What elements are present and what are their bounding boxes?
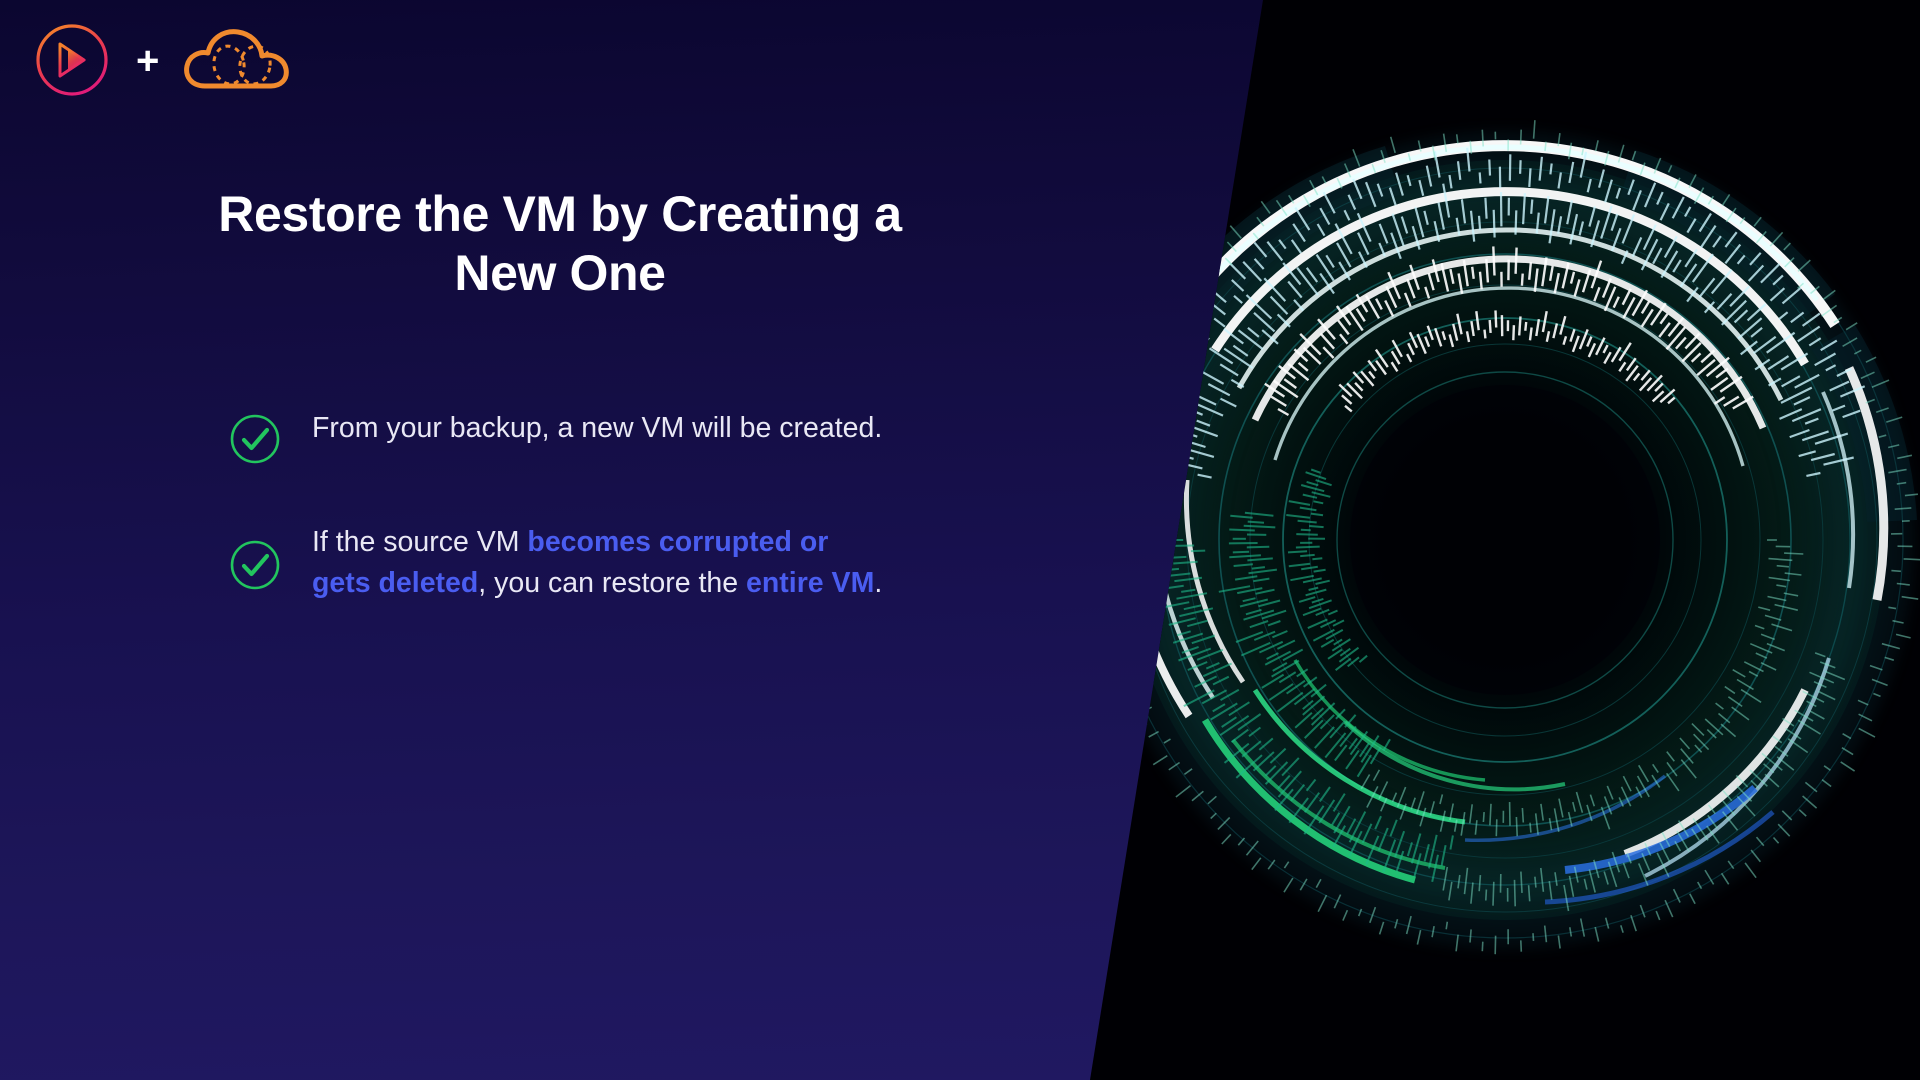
content-column: Restore the VM by Creating a New One Fro… [0, 0, 1180, 1080]
slide-root: + Restore the VM by Creating a New One F… [0, 0, 1920, 1080]
list-item: If the source VM becomes corrupted or ge… [228, 522, 988, 604]
hud-tech-circle-graphic [1090, 0, 1920, 1080]
page-title: Restore the VM by Creating a New One [110, 185, 1010, 302]
check-circle-icon [228, 412, 282, 466]
bullet-1-body: From your backup, a new VM will be creat… [312, 412, 882, 444]
page-title-line1: Restore the VM by Creating a [110, 185, 1010, 244]
list-item: From your backup, a new VM will be creat… [228, 408, 988, 466]
bullet-2-part1: If the source VM [312, 526, 527, 558]
bullet-text-2: If the source VM becomes corrupted or ge… [312, 522, 892, 604]
bullet-2-part2: , you can restore the [478, 567, 746, 599]
bullet-text-1: From your backup, a new VM will be creat… [312, 408, 882, 449]
hud-center-hole [1350, 385, 1660, 695]
bullet-list: From your backup, a new VM will be creat… [228, 408, 988, 660]
page-title-line2: New One [110, 244, 1010, 303]
bullet-2-highlight-2: entire VM [746, 567, 874, 599]
check-circle-icon [228, 538, 282, 592]
bullet-2-part3: . [874, 567, 882, 599]
hud-rings-container [1090, 0, 1920, 1080]
